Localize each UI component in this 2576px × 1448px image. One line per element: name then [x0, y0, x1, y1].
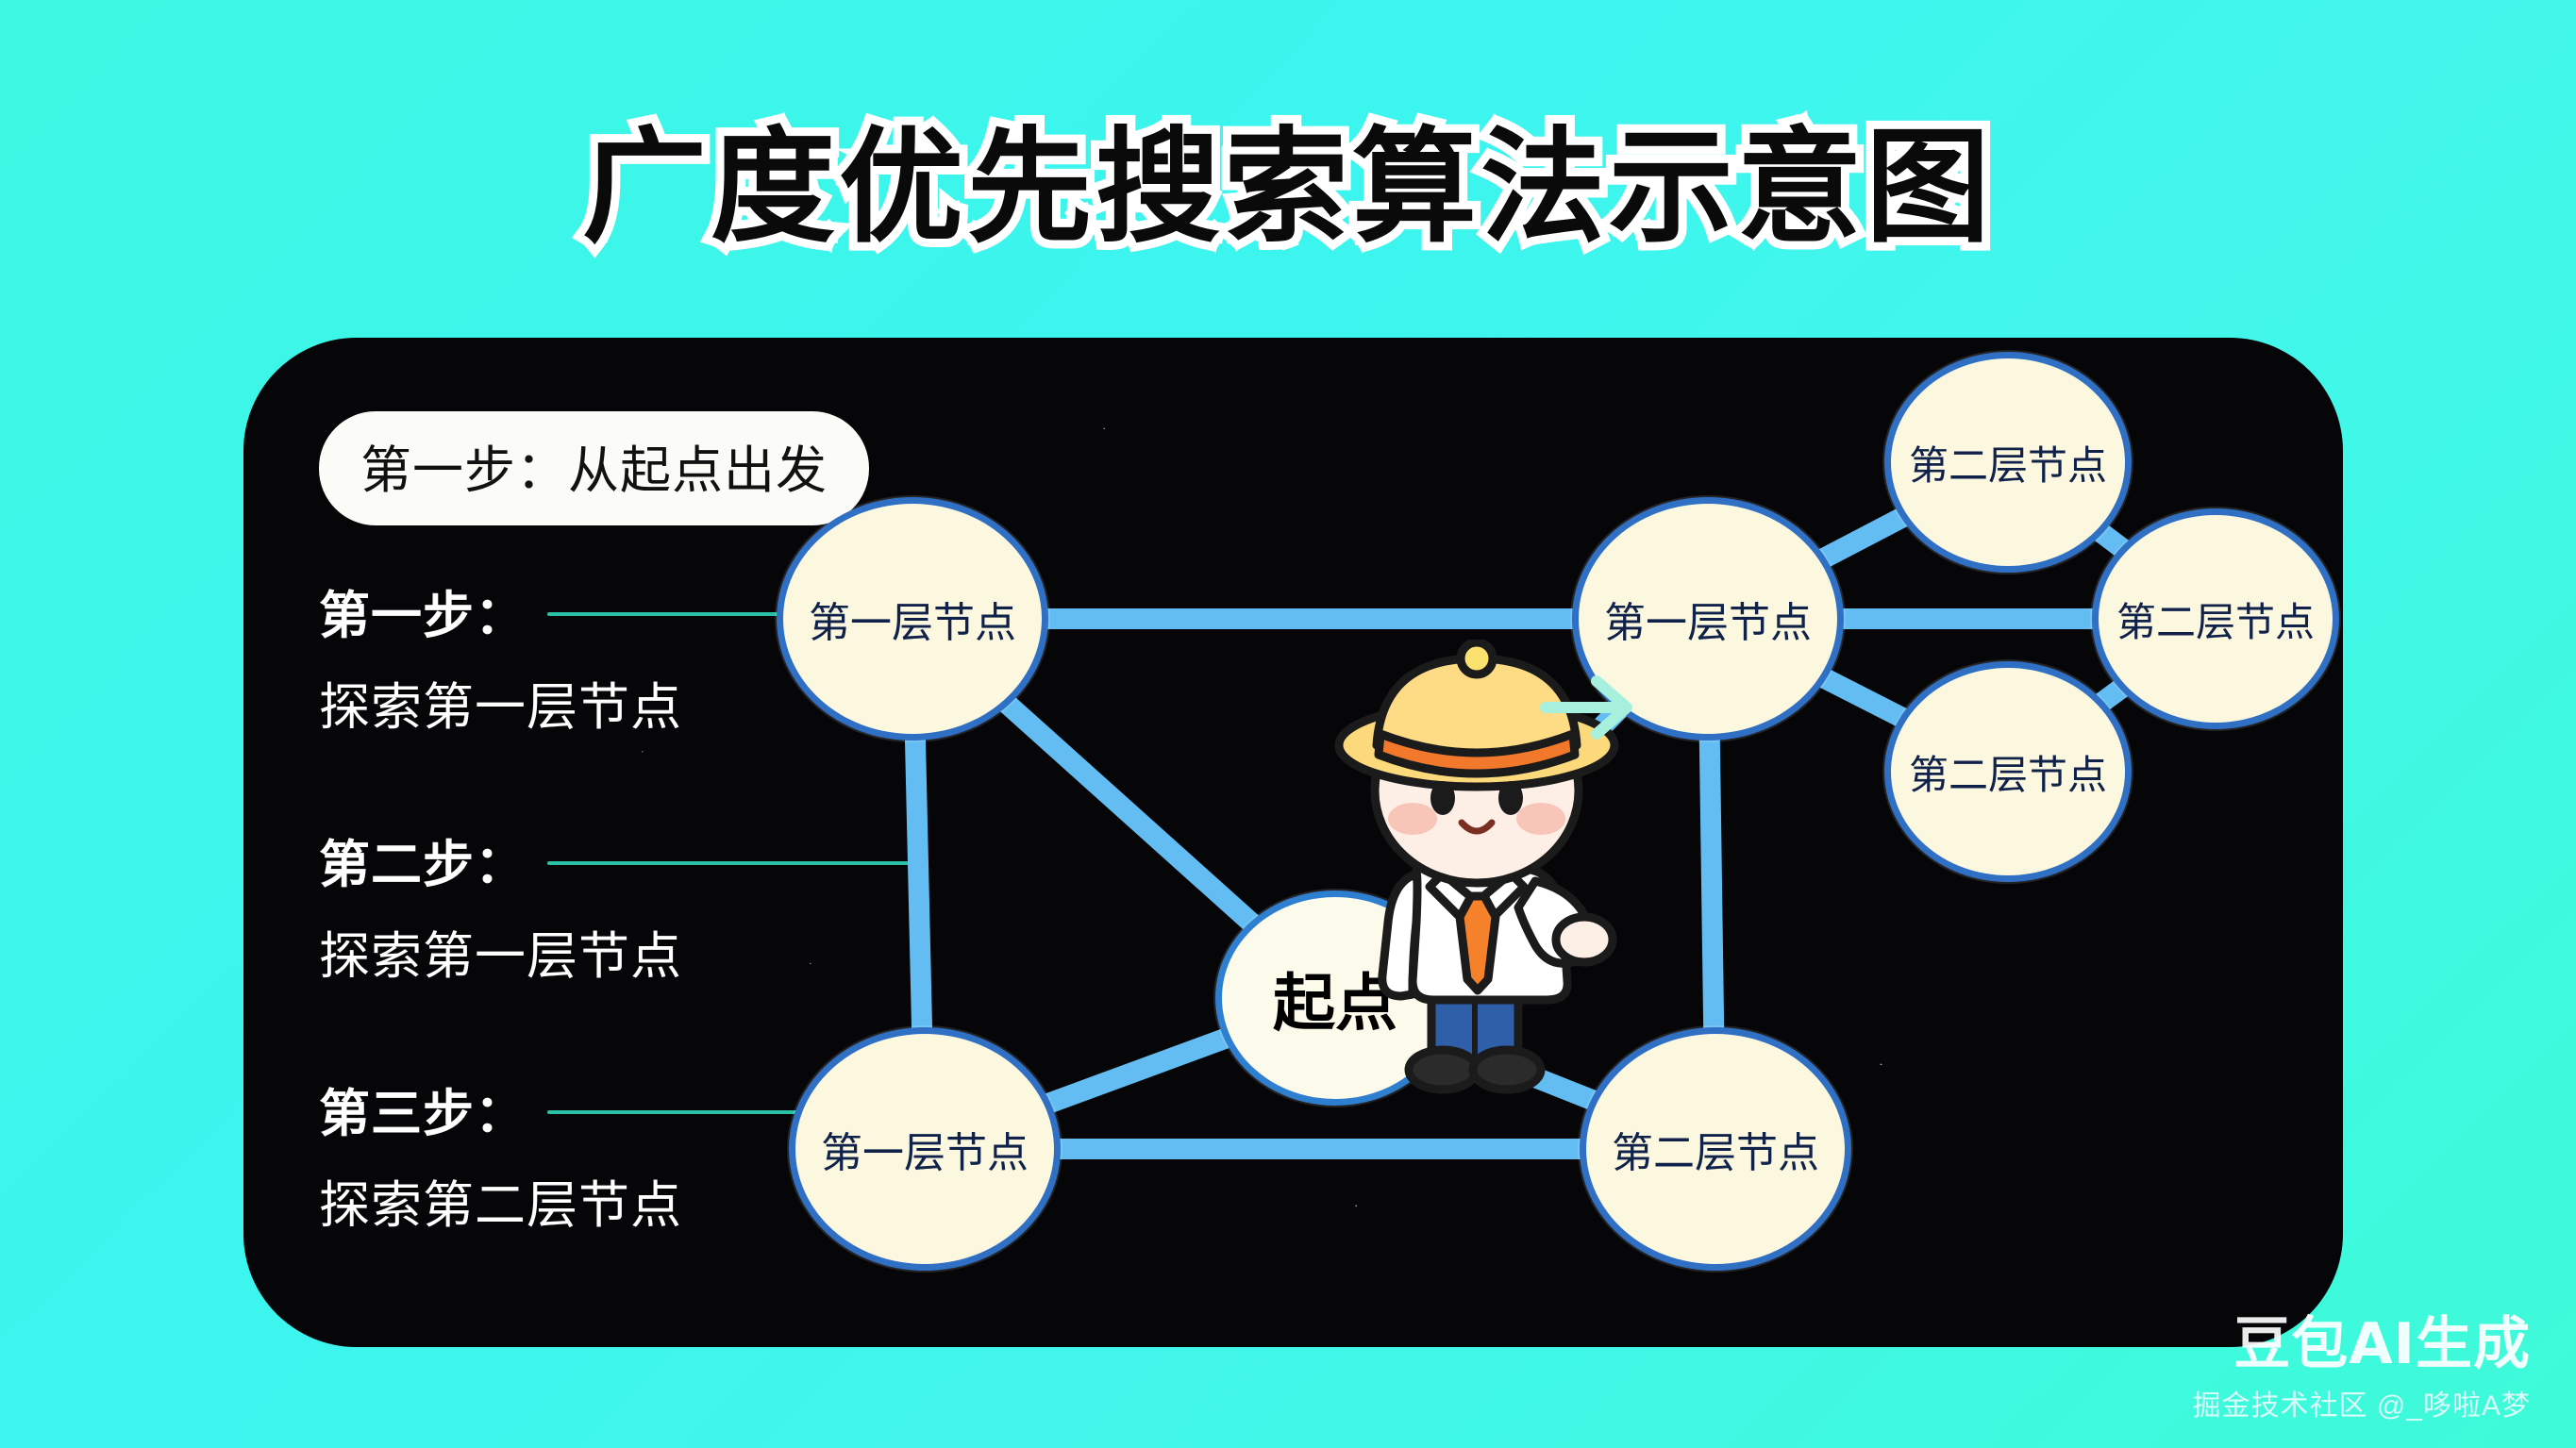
watermark: 豆包AI生成 掘金技术社区 @_哆啦A梦 — [2193, 1316, 2531, 1423]
graph-node-label: 第二层节点 — [1909, 434, 2107, 491]
graph-node-L1-bottom-left[interactable]: 第一层节点 — [789, 1027, 1061, 1271]
watermark-credit: 掘金技术社区 @_哆啦A梦 — [2193, 1382, 2531, 1423]
graph-node-label: 第二层节点 — [2116, 591, 2315, 648]
diagram-panel: 第一步：从起点出发 第一步： 探索第一层节点 第二步： 探索第一层节点 第三步： — [243, 338, 2343, 1347]
graph-canvas: 起点第一层节点第一层节点第一层节点第二层节点第二层节点第二层节点第二层节点 — [243, 338, 2343, 1347]
graph-node-label: 第一层节点 — [821, 1119, 1029, 1179]
watermark-brand: 豆包AI生成 — [2193, 1316, 2531, 1373]
graph-node-label: 第二层节点 — [1909, 743, 2107, 801]
graph-node-L2-lower[interactable]: 第二层节点 — [1884, 661, 2132, 882]
graph-node-L1-left[interactable]: 第一层节点 — [777, 497, 1048, 741]
graph-node-label: 第二层节点 — [1612, 1119, 1819, 1179]
graph-node-label: 第一层节点 — [809, 589, 1016, 649]
graph-node-L2-top[interactable]: 第二层节点 — [1884, 352, 2132, 573]
right-arrow-icon — [1538, 670, 1642, 745]
poster-stage: 广度优先搜索算法示意图 第一步：从起点出发 第一步： 探索第一层节点 第二步： … — [0, 0, 2576, 1448]
graph-node-L2-right[interactable]: 第二层节点 — [2092, 508, 2339, 729]
page-title: 广度优先搜索算法示意图 — [0, 119, 2576, 258]
